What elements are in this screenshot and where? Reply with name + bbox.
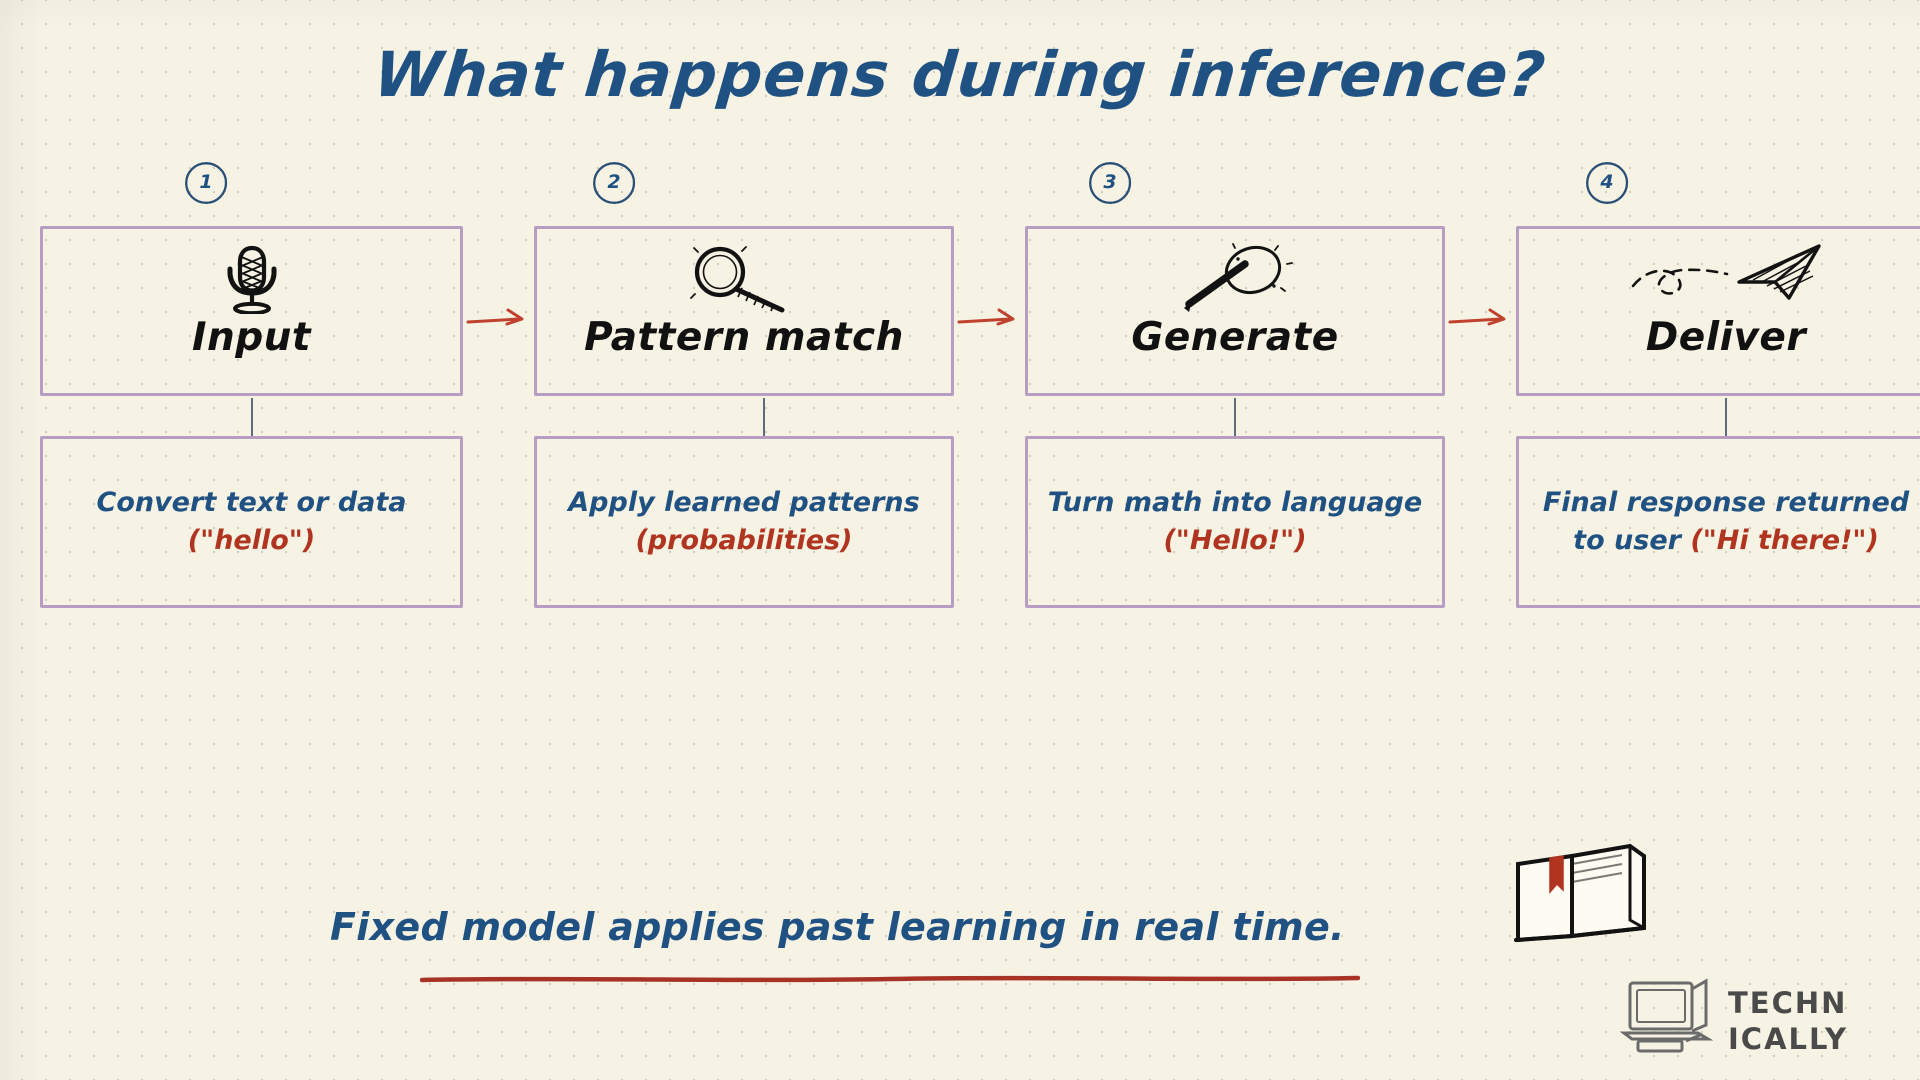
microphone-icon — [43, 243, 460, 313]
caption-text-input: Convert text or data ("hello") — [57, 484, 446, 561]
connector-line-3 — [1234, 398, 1236, 436]
caption-text-deliver: Final response returned to user ("Hi the… — [1533, 484, 1919, 561]
step-number-circle-3: 3 — [1087, 160, 1133, 206]
step-number-circle-2: 2 — [591, 160, 637, 206]
open-book-icon — [1510, 840, 1655, 950]
caption-quote-pattern-match: (probabilities) — [635, 525, 852, 556]
stage-label-deliver: Deliver — [1519, 315, 1920, 360]
stage-box-pattern-match[interactable]: Pattern match — [534, 226, 954, 396]
connector-line-1 — [251, 398, 253, 436]
caption-box-generate[interactable]: Turn math into language ("Hello!") — [1025, 436, 1445, 608]
caption-main-input: Convert text or data — [97, 487, 407, 518]
step-number-circle-4: 4 — [1584, 160, 1630, 206]
caption-quote-input: ("hello") — [188, 525, 315, 556]
connector-line-4 — [1725, 398, 1727, 436]
stage-box-deliver[interactable]: Deliver — [1516, 226, 1920, 396]
step-number-label: 3 — [1103, 171, 1116, 193]
brand-line-2: ICALLY — [1728, 1022, 1848, 1056]
arrow-generate-to-deliver — [1448, 300, 1514, 334]
paper-plane-icon — [1519, 243, 1920, 313]
stage-box-generate[interactable]: Generate — [1025, 226, 1445, 396]
brand-line-1: TECHN — [1728, 986, 1847, 1020]
caption-quote-deliver: ("Hi there!") — [1690, 525, 1878, 556]
connector-line-2 — [763, 398, 765, 436]
footer-underline — [420, 975, 1360, 983]
stage-box-input[interactable]: Input — [40, 226, 463, 396]
stage-label-pattern-match: Pattern match — [537, 315, 951, 360]
desktop-computer-icon — [1624, 981, 1708, 1051]
caption-main-pattern-match: Apply learned patterns — [568, 487, 919, 518]
arrow-input-to-pattern-match — [466, 300, 532, 334]
footer-tagline: Fixed model applies past learning in rea… — [330, 905, 1345, 949]
step-number-label: 2 — [607, 171, 620, 193]
step-number-label: 4 — [1600, 171, 1613, 193]
caption-quote-generate: ("Hello!") — [1163, 525, 1306, 556]
page-title: What happens during inference? — [0, 38, 1920, 111]
stage-label-input: Input — [43, 315, 460, 360]
arrow-pattern-match-to-generate — [957, 300, 1023, 334]
caption-main-generate: Turn math into language — [1048, 487, 1422, 518]
caption-text-pattern-match: Apply learned patterns (probabilities) — [551, 484, 937, 561]
brand-logo: TECHN ICALLY — [1620, 975, 1890, 1065]
step-number-label: 1 — [199, 171, 212, 193]
caption-box-pattern-match[interactable]: Apply learned patterns (probabilities) — [534, 436, 954, 608]
stage-label-generate: Generate — [1028, 315, 1442, 360]
pen-writing-icon — [1028, 243, 1442, 313]
magnifying-glass-icon — [537, 243, 951, 313]
caption-box-input[interactable]: Convert text or data ("hello") — [40, 436, 463, 608]
step-number-circle-1: 1 — [183, 160, 229, 206]
caption-text-generate: Turn math into language ("Hello!") — [1042, 484, 1428, 561]
caption-box-deliver[interactable]: Final response returned to user ("Hi the… — [1516, 436, 1920, 608]
